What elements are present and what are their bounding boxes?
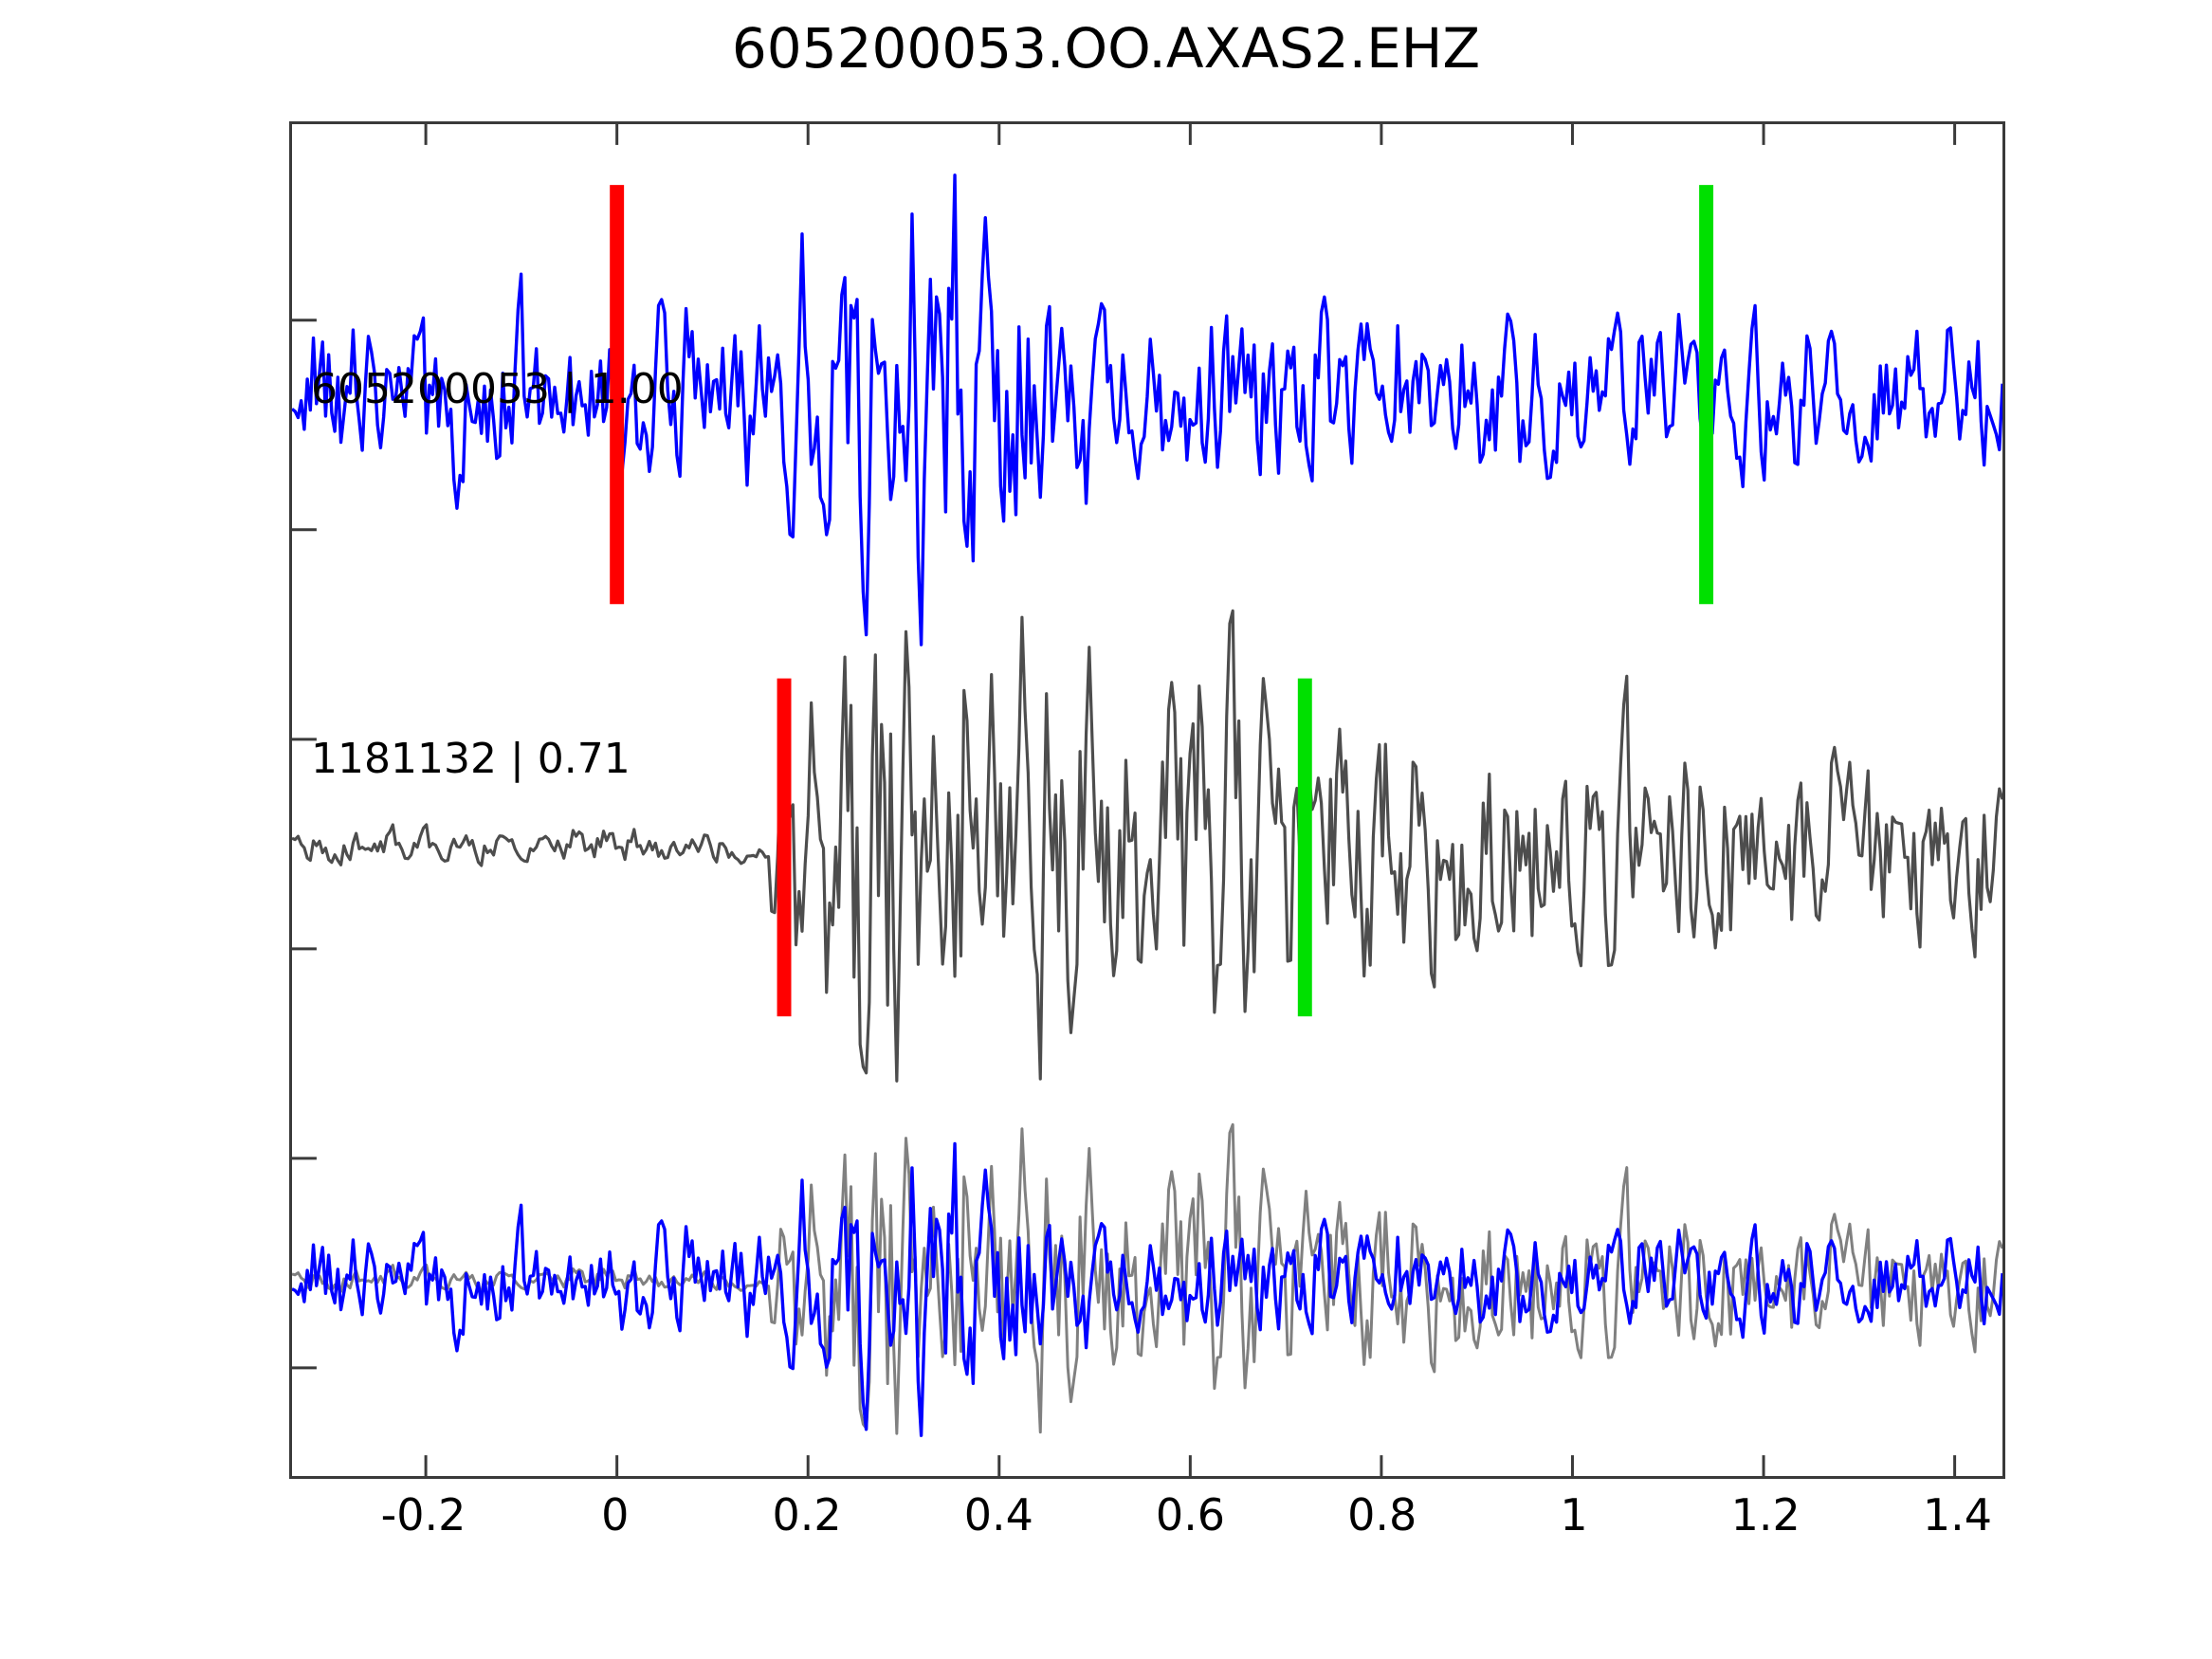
plot-area: 605200053 | 1.00 1181132 | 0.71 (289, 121, 2005, 1479)
trace-label-template: 605200053 | 1.00 (311, 369, 684, 410)
x-tick-label: 0.4 (964, 1493, 1033, 1537)
x-tick-label: 0.6 (1156, 1493, 1225, 1537)
detection-waveform (292, 611, 2002, 1081)
seismogram-figure: 605200053.OO.AXAS2.EHZ 605200053 | 1.00 … (0, 0, 2212, 1659)
waveform-canvas (292, 124, 2002, 1476)
x-tick-label: 0 (601, 1493, 629, 1537)
x-tick-label: 1.2 (1731, 1493, 1801, 1537)
x-tick-label: 0.8 (1347, 1493, 1417, 1537)
overlay-template-waveform (292, 1143, 2002, 1435)
page-title: 605200053.OO.AXAS2.EHZ (0, 21, 2212, 76)
x-tick-label: 0.2 (772, 1493, 841, 1537)
trace-label-detection: 1181132 | 0.71 (311, 738, 631, 780)
x-axis-tick-labels: -0.200.20.40.60.811.21.4 (289, 1493, 2005, 1559)
x-tick-label: -0.2 (381, 1493, 466, 1537)
x-tick-label: 1.4 (1923, 1493, 1992, 1537)
x-tick-label: 1 (1560, 1493, 1587, 1537)
